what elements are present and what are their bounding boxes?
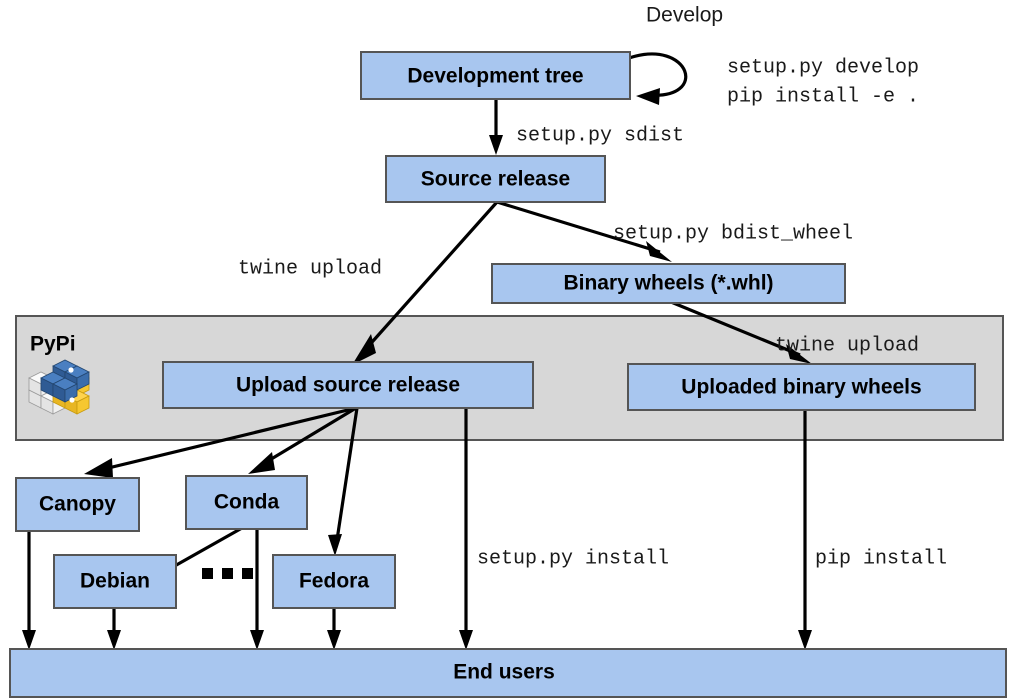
- edge-label-setup-install: setup.py install: [477, 547, 669, 570]
- edge-upload-to-canopy-arrowhead: [84, 458, 113, 478]
- node-upload-source-release[interactable]: Upload source release: [163, 362, 533, 408]
- node-conda-label: Conda: [214, 491, 280, 514]
- packaging-flow-diagram: PyPi: [0, 0, 1009, 698]
- edge-canopy-to-endusers-arrowhead: [22, 630, 36, 650]
- node-upload-source-release-label: Upload source release: [236, 374, 460, 397]
- node-end-users[interactable]: End users: [10, 649, 1006, 697]
- node-source-release[interactable]: Source release: [386, 156, 605, 202]
- node-end-users-label: End users: [453, 661, 555, 684]
- node-binary-wheels-label: Binary wheels (*.whl): [563, 272, 773, 295]
- node-binary-wheels[interactable]: Binary wheels (*.whl): [492, 264, 845, 303]
- node-source-release-label: Source release: [421, 168, 570, 191]
- ellipsis-dots: [202, 568, 253, 579]
- node-canopy[interactable]: Canopy: [16, 478, 139, 531]
- edge-upload-to-fedora-arrowhead: [328, 534, 342, 556]
- diagram-canvas: PyPi: [0, 0, 1009, 698]
- node-fedora-label: Fedora: [299, 570, 369, 593]
- edge-label-setup-bdist-wheel: setup.py bdist_wheel: [613, 222, 853, 245]
- edge-fedora-to-endusers-arrowhead: [327, 630, 341, 650]
- edge-label-twine-upload-source: twine upload: [238, 257, 382, 280]
- edge-label-pip-install-editable: pip install -e .: [727, 85, 919, 108]
- edge-devtree-to-source-arrowhead: [489, 135, 503, 155]
- edge-label-setup-develop: setup.py develop: [727, 56, 919, 79]
- edge-label-develop: Develop: [646, 4, 723, 27]
- edge-develop-loop-arrowhead: [636, 88, 660, 105]
- edge-upload-to-endusers-arrowhead: [459, 630, 473, 650]
- node-canopy-label: Canopy: [39, 493, 116, 516]
- node-debian-label: Debian: [80, 570, 150, 593]
- node-uploaded-binary-wheels[interactable]: Uploaded binary wheels: [628, 364, 975, 410]
- node-conda[interactable]: Conda: [186, 476, 307, 529]
- edge-uploadedwheels-to-endusers-arrowhead: [798, 630, 812, 650]
- node-fedora[interactable]: Fedora: [273, 555, 395, 608]
- edge-label-setup-sdist: setup.py sdist: [516, 124, 684, 147]
- node-uploaded-binary-wheels-label: Uploaded binary wheels: [681, 376, 921, 399]
- node-debian[interactable]: Debian: [54, 555, 176, 608]
- edge-label-pip-install: pip install: [815, 547, 947, 570]
- node-development-tree[interactable]: Development tree: [361, 52, 630, 99]
- pypi-group-label: PyPi: [30, 333, 76, 356]
- node-development-tree-label: Development tree: [407, 65, 583, 88]
- edge-label-twine-upload-wheels: twine upload: [775, 334, 919, 357]
- edge-conda-to-endusers-arrowhead: [250, 630, 264, 650]
- edge-upload-to-conda-arrowhead: [248, 452, 275, 474]
- edge-debian-to-endusers-arrowhead: [107, 630, 121, 650]
